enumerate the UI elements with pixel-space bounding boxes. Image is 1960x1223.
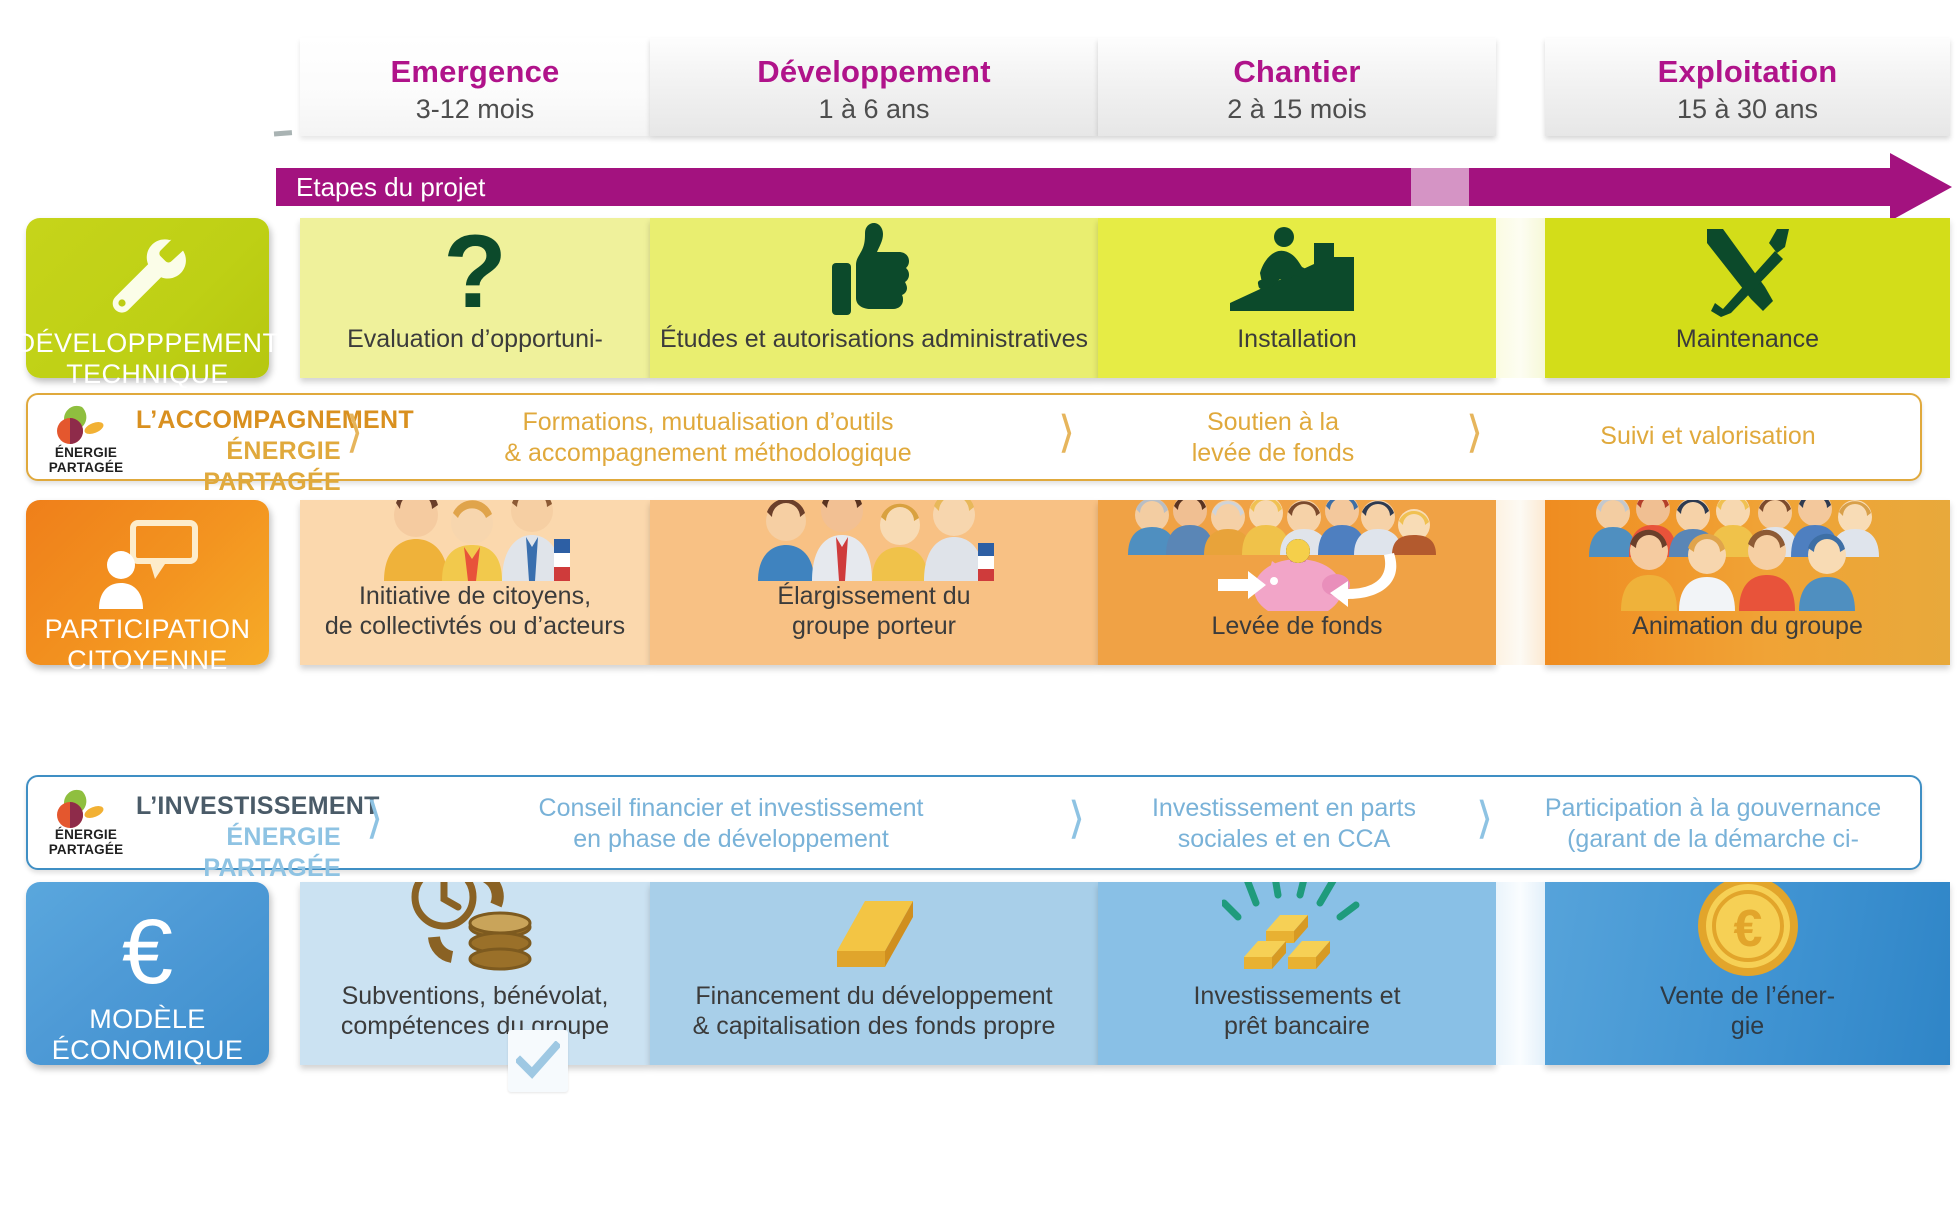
- column-gap-strip: [1496, 500, 1545, 665]
- checkmark-icon: [508, 1030, 568, 1092]
- column-gap-strip: [1496, 218, 1545, 378]
- cell-label-line1: Investissements et: [1193, 981, 1400, 1011]
- phase-tab-exploitation[interactable]: Exploitation 15 à 30 ans: [1545, 38, 1950, 136]
- timeline-bar-label: Etapes du projet: [296, 172, 485, 202]
- phase-tab-developpement[interactable]: Développement 1 à 6 ans: [650, 38, 1098, 136]
- band-item-line1: Participation à la gouvernance: [1514, 793, 1912, 824]
- timeline-bar-gap-highlight: [1411, 168, 1469, 206]
- row-label-line1: PARTICIPATION: [41, 614, 255, 645]
- cell-technique-emergence[interactable]: ? Evaluation d’opportuni-: [300, 218, 650, 378]
- band-investissement: ÉNERGIE PARTAGÉE L’INVESTISSEMENT ÉNERGI…: [26, 775, 1922, 870]
- chevron-separator-icon: ⟩: [366, 797, 383, 841]
- euro-symbol-icon: €: [122, 900, 173, 1004]
- phase-duration: 15 à 30 ans: [1545, 92, 1950, 126]
- clock-coins-icon: [300, 882, 650, 981]
- cell-label: Installation: [1227, 324, 1367, 378]
- band-item-1: Formations, mutualisation d’outils & acc…: [388, 407, 1028, 469]
- cell-economique-developpement[interactable]: Financement du développement & capitalis…: [650, 882, 1098, 1065]
- cell-label: Investissements et prêt bancaire: [1183, 981, 1410, 1065]
- gold-bars-shine-icon: [1098, 882, 1496, 981]
- band-item-line1: Formations, mutualisation d’outils: [388, 407, 1028, 438]
- timeline-arrow-head: [1890, 153, 1952, 221]
- cell-label: Élargissement du groupe porteur: [767, 581, 980, 665]
- band-accompagnement: ÉNERGIE PARTAGÉE L’ACCOMPAGNEMENT ÉNERGI…: [26, 393, 1922, 481]
- row-label-participation-citoyenne[interactable]: PARTICIPATION CITOYENNE: [26, 500, 269, 665]
- row-cells-participation-citoyenne: Initiative de citoyens, de collectivtés …: [300, 500, 1930, 665]
- cell-label: Animation du groupe: [1622, 611, 1873, 665]
- small-group-icon: [300, 500, 650, 581]
- row-label-line1: MODÈLE: [85, 1004, 209, 1035]
- phase-tab-emergence[interactable]: Emergence 3-12 mois: [300, 38, 650, 136]
- tools-icon: [1545, 218, 1950, 324]
- phase-header: Emergence 3-12 mois Développement 1 à 6 …: [300, 38, 1930, 136]
- phase-tab-chantier[interactable]: Chantier 2 à 15 mois: [1098, 38, 1496, 136]
- row-label-developpement-technique[interactable]: DÉVELOPPPEMENT TECHNIQUE: [26, 218, 269, 378]
- cell-label: Levée de fonds: [1202, 611, 1393, 665]
- chevron-separator-icon: ⟩: [1068, 797, 1085, 841]
- band-item-3: Suivi et valorisation: [1518, 421, 1898, 452]
- band-item-2: Investissement en parts sociales et en C…: [1114, 793, 1454, 855]
- phase-name: Chantier: [1098, 54, 1496, 90]
- cell-label-line2: prêt bancaire: [1193, 1011, 1400, 1041]
- band-item-1: Conseil financier et investissement en p…: [416, 793, 1046, 855]
- chevron-separator-icon: ⟩: [1058, 411, 1075, 455]
- cell-participation-emergence[interactable]: Initiative de citoyens, de collectivtés …: [300, 500, 650, 665]
- cell-label-line2: groupe porteur: [777, 611, 970, 641]
- cell-participation-chantier[interactable]: Levée de fonds: [1098, 500, 1496, 665]
- band-item-line2: (garant de la démarche ci-: [1514, 824, 1912, 855]
- large-crowd-icon: [1545, 500, 1950, 611]
- phase-name: Exploitation: [1545, 54, 1950, 90]
- cell-economique-chantier[interactable]: Investissements et prêt bancaire: [1098, 882, 1496, 1065]
- energie-partagee-logo-text: ÉNERGIE PARTAGÉE: [42, 828, 130, 857]
- chevron-separator-icon: ⟩: [1476, 797, 1493, 841]
- cell-label-line2: de collectivtés ou d’acteurs: [325, 611, 625, 641]
- band-item-3: Participation à la gouvernance (garant d…: [1514, 793, 1912, 855]
- cell-label-line2: & capitalisation des fonds propre: [693, 1011, 1056, 1041]
- cell-label-line1: Levée de fonds: [1212, 611, 1383, 641]
- band-title-line1: L’ACCOMPAGNEMENT: [136, 405, 341, 436]
- energie-partagee-logo-text: ÉNERGIE PARTAGÉE: [42, 446, 130, 475]
- band-item-line2: & accompagnement méthodologique: [388, 438, 1028, 469]
- cell-label: Initiative de citoyens, de collectivtés …: [315, 581, 635, 665]
- cell-technique-chantier[interactable]: Installation: [1098, 218, 1496, 378]
- chevron-separator-icon: ⟩: [1466, 411, 1483, 455]
- band-title-investissement: L’INVESTISSEMENT ÉNERGIE PARTAGÉE: [136, 791, 341, 884]
- energie-partagee-logo-icon: ÉNERGIE PARTAGÉE: [42, 785, 130, 857]
- band-item-line1: Suivi et valorisation: [1518, 421, 1898, 452]
- row-label-line2: ÉCONOMIQUE: [48, 1035, 248, 1066]
- cell-label: Evaluation d’opportuni-: [337, 324, 613, 378]
- chevron-separator-icon: ⟩: [346, 411, 363, 455]
- row-label-modele-economique[interactable]: € MODÈLE ÉCONOMIQUE: [26, 882, 269, 1065]
- crowd-piggy-bank-icon: [1098, 500, 1496, 611]
- cell-economique-exploitation[interactable]: € Vente de l’éner- gie: [1545, 882, 1950, 1065]
- phase-duration: 1 à 6 ans: [650, 92, 1098, 126]
- cell-label-line2: gie: [1660, 1011, 1835, 1041]
- band-title-line2: ÉNERGIE PARTAGÉE: [136, 436, 341, 498]
- band-item-line2: sociales et en CCA: [1114, 824, 1454, 855]
- row-label-line2: CITOYENNE: [63, 645, 232, 676]
- euro-coin-icon: €: [1545, 882, 1950, 981]
- cell-participation-exploitation[interactable]: Animation du groupe: [1545, 500, 1950, 665]
- band-item-line1: Soutien à la: [1108, 407, 1438, 438]
- cell-label: Subventions, bénévolat, compétences du g…: [331, 981, 619, 1065]
- cell-label-line1: Vente de l’éner-: [1660, 981, 1835, 1011]
- phase-name: Emergence: [300, 54, 650, 90]
- row-label-line2: TECHNIQUE: [62, 359, 233, 390]
- band-item-2: Soutien à la levée de fonds: [1108, 407, 1438, 469]
- cell-label-line1: Initiative de citoyens,: [325, 581, 625, 611]
- svg-text:€: €: [1733, 900, 1762, 958]
- band-item-line1: Conseil financier et investissement: [416, 793, 1046, 824]
- band-item-line2: levée de fonds: [1108, 438, 1438, 469]
- phase-name: Développement: [650, 54, 1098, 90]
- band-item-line2: en phase de développement: [416, 824, 1046, 855]
- column-gap-strip: [1496, 882, 1545, 1065]
- cell-label-line1: Subventions, bénévolat,: [341, 981, 609, 1011]
- band-item-line1: Investissement en parts: [1114, 793, 1454, 824]
- cell-label: Études et autorisations administratives: [650, 324, 1098, 378]
- cell-label-line1: Financement du développement: [693, 981, 1056, 1011]
- cell-technique-developpement[interactable]: Études et autorisations administratives: [650, 218, 1098, 378]
- wrench-icon: [100, 232, 196, 328]
- thumbs-up-icon: [650, 218, 1098, 324]
- cell-participation-developpement[interactable]: Élargissement du groupe porteur: [650, 500, 1098, 665]
- medium-group-icon: [650, 500, 1098, 581]
- cell-label-line2: compétences du groupe: [341, 1011, 609, 1041]
- energie-partagee-logo-icon: ÉNERGIE PARTAGÉE: [42, 403, 130, 475]
- cell-label: Vente de l’éner- gie: [1650, 981, 1845, 1065]
- band-title-accompagnement: L’ACCOMPAGNEMENT ÉNERGIE PARTAGÉE: [136, 405, 341, 498]
- cell-label-line1: Élargissement du: [777, 581, 970, 611]
- person-speech-bubble-icon: [93, 516, 203, 614]
- phase-duration: 3-12 mois: [300, 92, 650, 126]
- cell-label-line1: Animation du groupe: [1632, 611, 1863, 641]
- question-mark-icon: ?: [300, 218, 650, 324]
- band-title-line2: ÉNERGIE PARTAGÉE: [136, 822, 341, 884]
- row-label-line1: DÉVELOPPPEMENT: [12, 328, 284, 359]
- cell-label: Maintenance: [1666, 324, 1829, 378]
- band-title-line1: L’INVESTISSEMENT: [136, 791, 341, 822]
- cell-label: Financement du développement & capitalis…: [683, 981, 1066, 1065]
- row-cells-developpement-technique: ? Evaluation d’opportuni- Études et auto…: [300, 218, 1930, 378]
- timeline-bar: Etapes du projet: [276, 168, 1896, 206]
- cell-economique-emergence[interactable]: Subventions, bénévolat, compétences du g…: [300, 882, 650, 1065]
- phase-duration: 2 à 15 mois: [1098, 92, 1496, 126]
- gold-bar-icon: [650, 882, 1098, 981]
- cell-technique-exploitation[interactable]: Maintenance: [1545, 218, 1950, 378]
- construction-worker-icon: [1098, 218, 1496, 324]
- svg-text:?: ?: [443, 219, 507, 323]
